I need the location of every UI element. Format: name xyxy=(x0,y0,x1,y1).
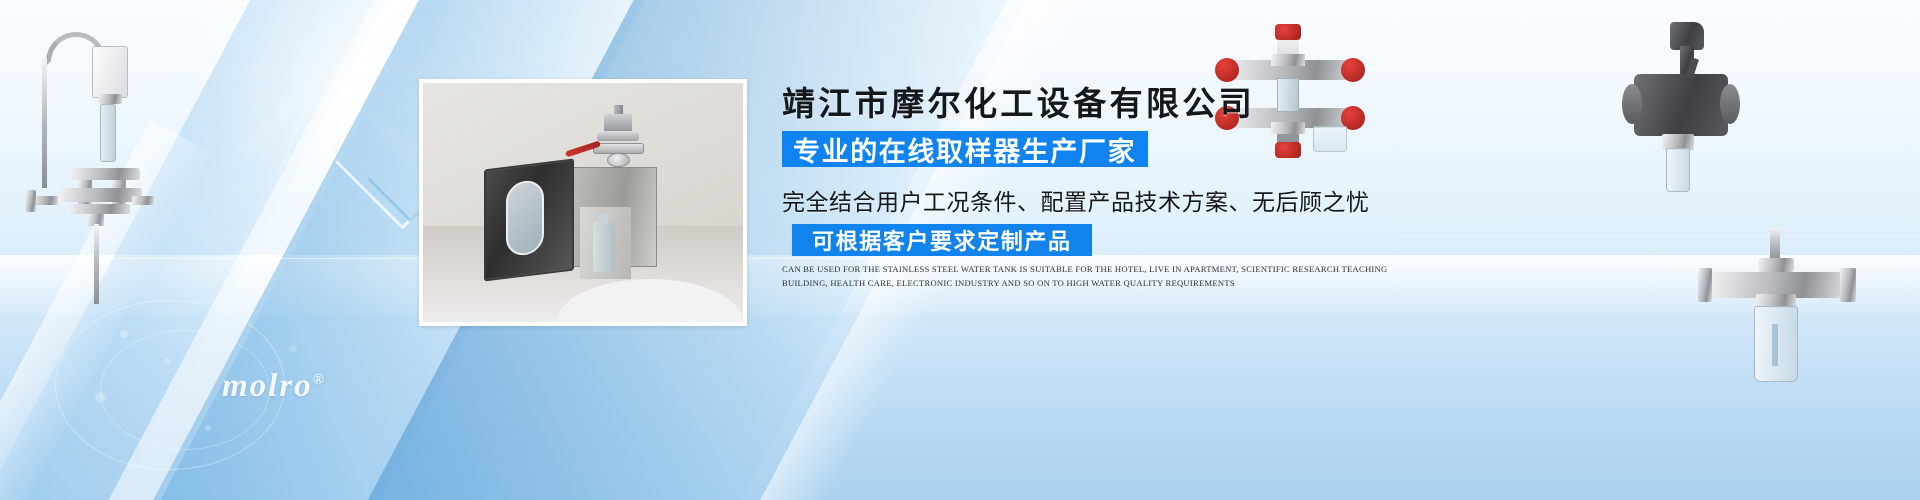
product-inline-bottle-sampler xyxy=(1698,228,1858,418)
page-title: 靖江市摩尔化工设备有限公司 xyxy=(782,77,1394,125)
banner-text-block: 靖江市摩尔化工设备有限公司 专业的在线取样器生产厂家 完全结合用户工况条件、配置… xyxy=(778,0,1398,500)
splash-dot xyxy=(290,345,297,352)
product-photo xyxy=(419,79,747,326)
promotional-banner: 靖江市摩尔化工设备有限公司 专业的在线取样器生产厂家 完全结合用户工况条件、配置… xyxy=(0,0,1920,500)
watermark-registered-icon: ® xyxy=(313,372,326,388)
slogan-secondary: 完全结合用户工况条件、配置产品技术方案、无后顾之忧 xyxy=(782,183,1398,217)
watermark-text: molro xyxy=(222,368,313,404)
english-description: CAN BE USED FOR THE STAINLESS STEEL WATE… xyxy=(782,262,1390,290)
product-wall-mounted-sampler-assembly xyxy=(12,28,162,298)
slogan-custom-badge: 可根据客户要求定制产品 xyxy=(792,224,1092,256)
product-flanged-sampler-body-main xyxy=(1618,22,1738,202)
splash-dot xyxy=(60,300,74,314)
slogan-primary-badge: 专业的在线取样器生产厂家 xyxy=(782,131,1148,167)
watermark-logo: molro® xyxy=(222,368,326,405)
